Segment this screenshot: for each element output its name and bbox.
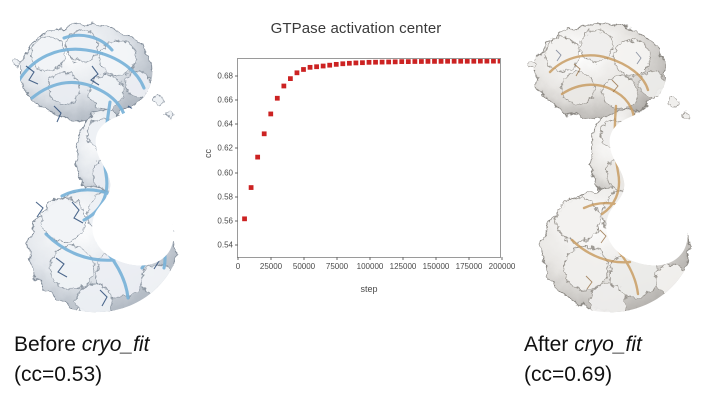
y-axis-label: cc [203,149,213,158]
x-tick-label: 200000 [489,262,516,271]
x-tick-label: 75000 [326,262,348,271]
y-tick-mark [235,124,238,125]
caption-after-emphasis: cryo_fit [574,333,642,356]
data-point [301,67,306,72]
y-tick-mark [235,76,238,77]
x-tick-label: 175000 [456,262,483,271]
x-tick-label: 125000 [390,262,417,271]
data-point [255,155,260,160]
data-point [393,59,398,64]
y-tick-mark [235,148,238,149]
data-point [471,59,476,64]
chart-title: GTPase activation center [196,20,516,37]
x-tick-label: 100000 [357,262,384,271]
data-point [373,60,378,65]
data-point [249,185,254,190]
data-point [445,59,450,64]
y-tick-mark [235,196,238,197]
data-point [321,64,326,69]
data-point [360,60,365,65]
data-point [432,59,437,64]
data-point [478,59,483,64]
y-tick-mark [235,220,238,221]
data-point [498,59,500,64]
data-point [439,59,444,64]
x-tick-label: 150000 [423,262,450,271]
data-point [485,59,490,64]
x-tick-mark [337,257,338,260]
data-point [242,216,247,221]
cryo-em-density-svg-after [516,6,712,321]
molecule-image-before [2,6,198,321]
y-tick-label: 0.60 [217,168,233,177]
data-point [334,62,339,67]
y-tick-mark [235,172,238,173]
data-point [347,61,352,66]
x-tick-label: 25000 [260,262,282,271]
caption-before-cc: (cc=0.53) [14,360,149,390]
x-tick-mark [304,257,305,260]
data-point [386,60,391,65]
data-point [268,112,273,117]
data-point [491,59,496,64]
data-point [426,59,431,64]
y-tick-label: 0.62 [217,144,233,153]
data-point [275,96,280,101]
data-point [406,59,411,64]
x-tick-mark [469,257,470,260]
data-point [327,63,332,68]
caption-after-prefix: After [524,333,574,356]
data-point [399,59,404,64]
data-point [458,59,463,64]
y-tick-label: 0.58 [217,192,233,201]
data-point [367,60,372,65]
x-tick-mark [238,257,239,260]
x-axis-label: step [237,284,501,294]
scatter-series [238,59,500,257]
plot-area: 0.540.560.580.600.620.640.660.6802500050… [237,58,501,258]
y-tick-label: 0.66 [217,96,233,105]
x-tick-mark [436,257,437,260]
y-tick-label: 0.56 [217,216,233,225]
x-tick-mark [502,257,503,260]
data-point [295,70,300,75]
cc-vs-step-chart: GTPase activation center 0.540.560.580.6… [196,12,516,302]
data-point [308,65,313,70]
x-tick-mark [403,257,404,260]
x-tick-label: 0 [236,262,240,271]
data-point [314,64,319,69]
caption-after-cc: (cc=0.69) [524,360,642,390]
x-tick-label: 50000 [293,262,315,271]
data-point [288,76,293,81]
caption-before: Before cryo_fit (cc=0.53) [14,330,149,390]
molecule-image-after [516,6,712,321]
data-point [380,60,385,65]
data-point [340,61,345,66]
data-point [262,131,267,136]
data-point [452,59,457,64]
data-point [465,59,470,64]
y-tick-label: 0.64 [217,120,233,129]
caption-after: After cryo_fit (cc=0.69) [524,330,642,390]
x-tick-mark [271,257,272,260]
y-tick-label: 0.68 [217,72,233,81]
cryo-em-density-svg-before [2,6,198,321]
y-tick-label: 0.54 [217,240,233,249]
caption-before-prefix: Before [14,333,82,356]
y-tick-mark [235,244,238,245]
data-point [412,59,417,64]
x-tick-mark [370,257,371,260]
caption-before-emphasis: cryo_fit [82,333,150,356]
data-point [419,59,424,64]
data-point [281,84,286,89]
data-point [354,61,359,66]
y-tick-mark [235,100,238,101]
